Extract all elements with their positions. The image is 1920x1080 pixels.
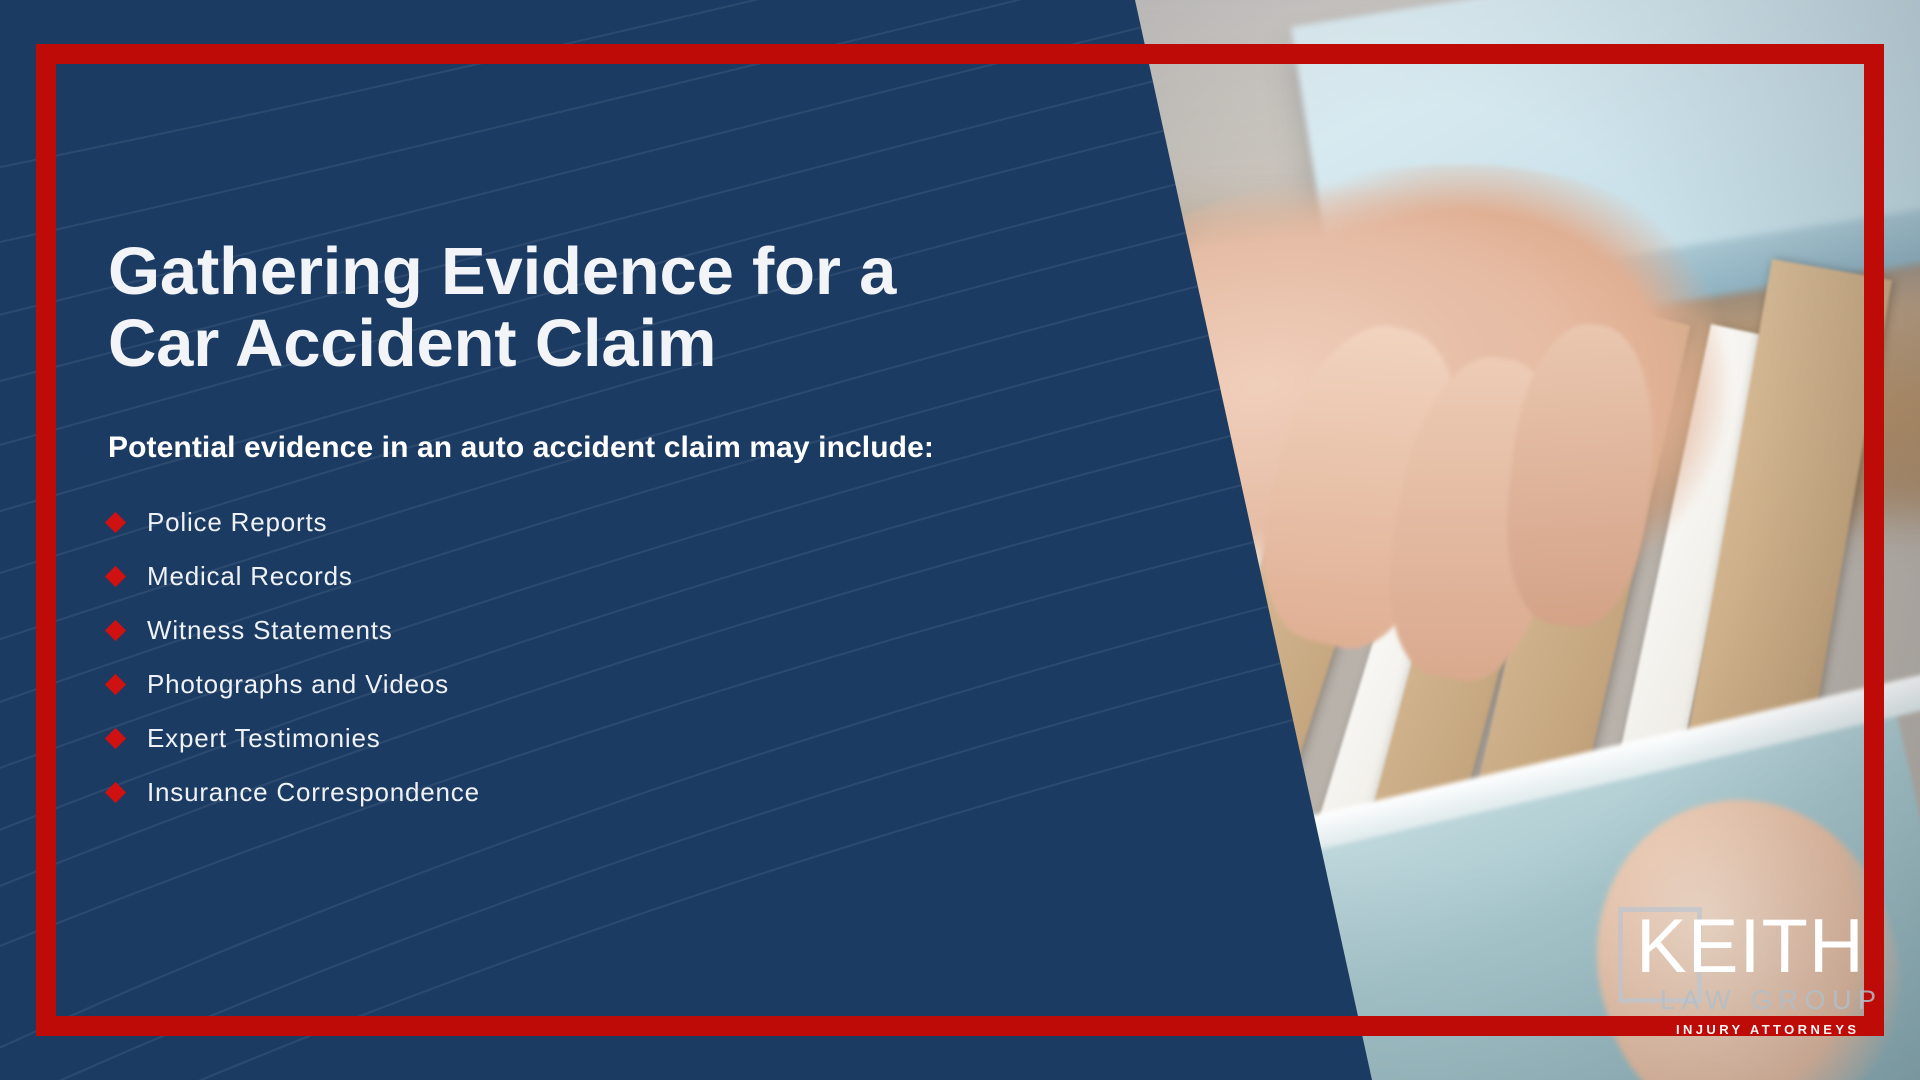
list-item: Expert Testimonies	[108, 711, 1118, 765]
logo-wordmark: KEITH	[1636, 909, 1865, 985]
list-item: Photographs and Videos	[108, 657, 1118, 711]
list-item-label: Insurance Correspondence	[147, 777, 480, 808]
headline-line-2: Car Accident Claim	[108, 308, 1118, 380]
list-item-label: Medical Records	[147, 561, 353, 592]
list-item: Insurance Correspondence	[108, 765, 1118, 819]
logo-tagline: INJURY ATTORNEYS	[1676, 1023, 1859, 1036]
marketing-graphic: Gathering Evidence for a Car Accident Cl…	[0, 0, 1920, 1080]
list-item-label: Witness Statements	[147, 615, 393, 646]
diamond-bullet-icon	[105, 566, 126, 587]
keith-law-group-logo: KEITH LAW GROUP INJURY ATTORNEYS	[1604, 899, 1884, 1044]
diamond-bullet-icon	[105, 782, 126, 803]
list-item: Medical Records	[108, 549, 1118, 603]
logo-subtitle: LAW GROUP	[1660, 987, 1883, 1014]
content-block: Gathering Evidence for a Car Accident Cl…	[108, 236, 1118, 819]
headline-line-1: Gathering Evidence for a	[108, 236, 1118, 308]
diamond-bullet-icon	[105, 728, 126, 749]
list-item: Witness Statements	[108, 603, 1118, 657]
diamond-bullet-icon	[105, 674, 126, 695]
list-item-label: Expert Testimonies	[147, 723, 381, 754]
diamond-bullet-icon	[105, 512, 126, 533]
list-item-label: Photographs and Videos	[147, 669, 449, 700]
list-item-label: Police Reports	[147, 507, 327, 538]
page-title: Gathering Evidence for a Car Accident Cl…	[108, 236, 1118, 379]
list-item: Police Reports	[108, 495, 1118, 549]
subtitle: Potential evidence in an auto accident c…	[108, 379, 1118, 465]
diamond-bullet-icon	[105, 620, 126, 641]
evidence-list: Police Reports Medical Records Witness S…	[108, 465, 1118, 819]
